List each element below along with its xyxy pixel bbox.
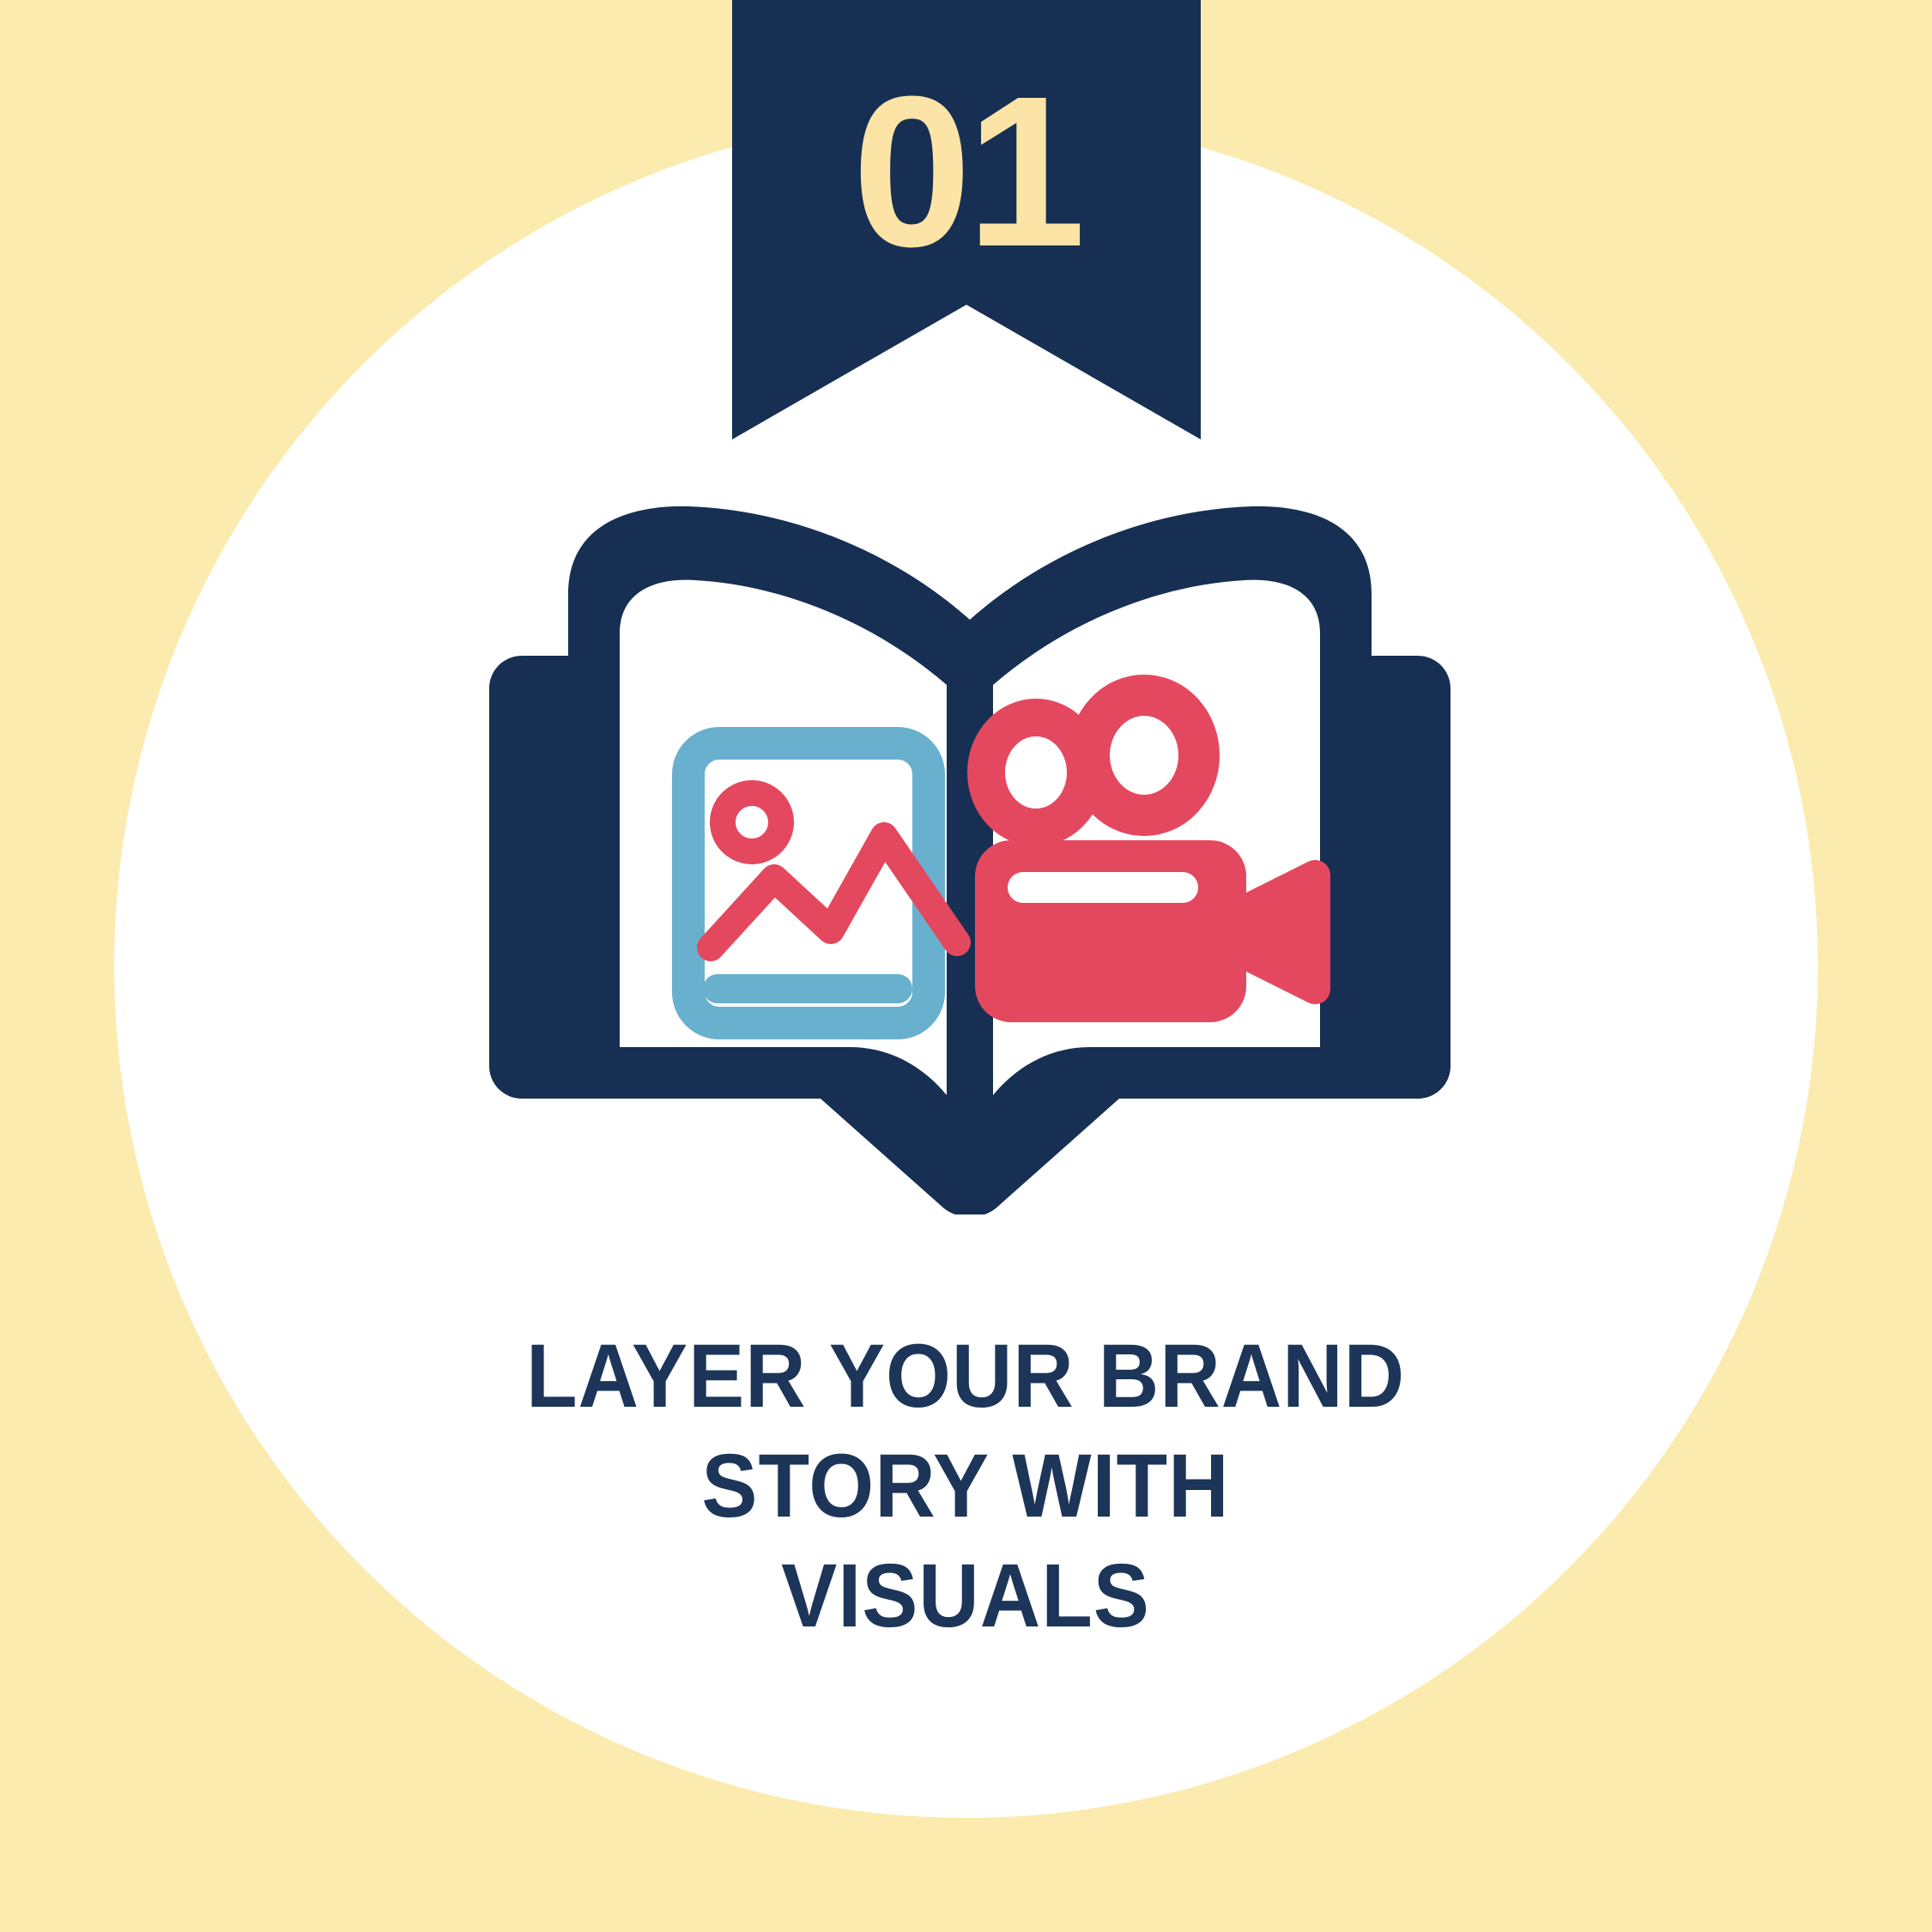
step-number-label: 01 [732, 0, 1201, 343]
title-line-3: VISUALS [367, 1541, 1565, 1651]
open-book-shape [489, 506, 1451, 1214]
open-book-with-media-icon [489, 489, 1451, 1214]
card-title: LAYER YOUR BRAND STORY WITH VISUALS [367, 1322, 1565, 1651]
infographic-card: 01 [0, 0, 1932, 1932]
step-number-ribbon: 01 [732, 0, 1201, 439]
title-line-1: LAYER YOUR BRAND [367, 1322, 1565, 1432]
title-line-2: STORY WITH [367, 1432, 1565, 1541]
